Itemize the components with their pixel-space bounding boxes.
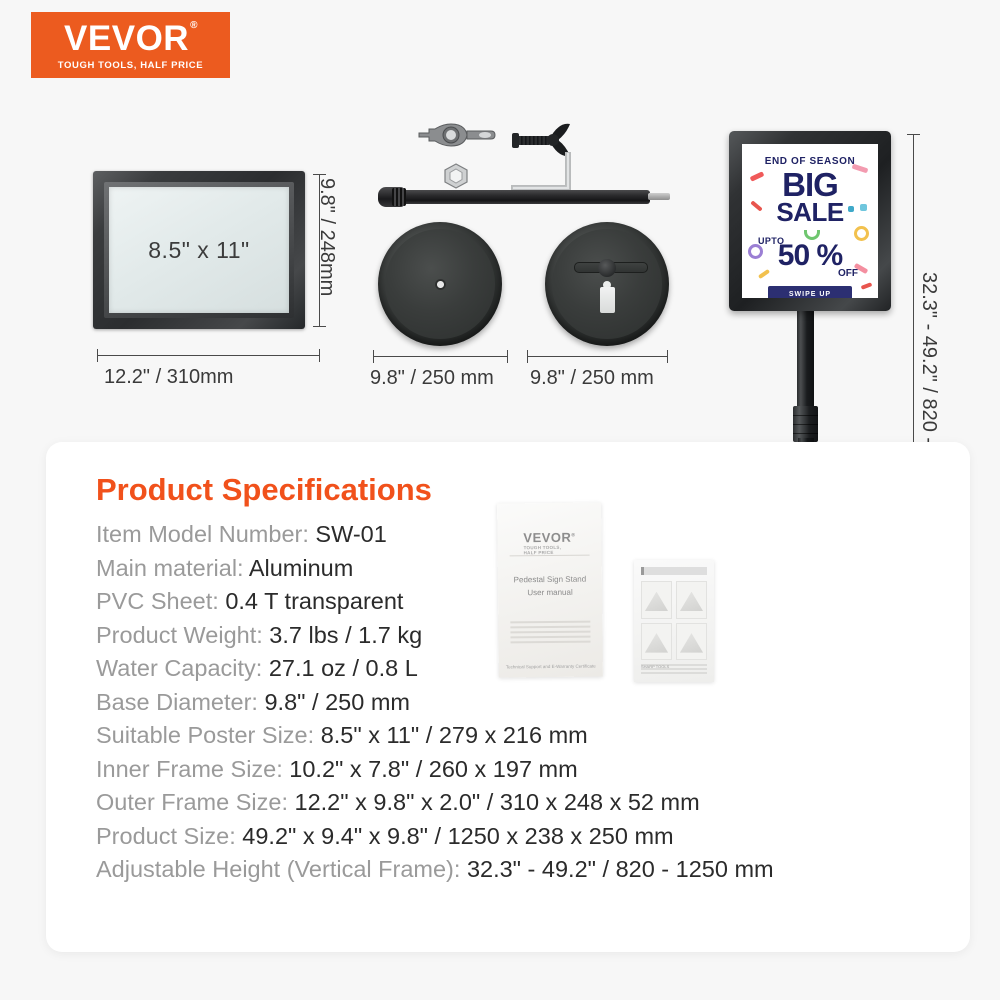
base-fill-tab: [600, 287, 615, 313]
spec-key: Outer Frame Size:: [96, 789, 288, 815]
brand-tagline: TOUGH TOOLS, HALF PRICE: [58, 60, 203, 71]
spec-key: Suitable Poster Size:: [96, 722, 314, 748]
poster-sale-text: SALE: [742, 199, 878, 225]
base-center-knob: [598, 259, 616, 277]
spec-value: 8.5" x 11" / 279 x 216 mm: [321, 722, 588, 748]
stand-height-tick-top: [907, 134, 920, 135]
base-right-tick-end: [667, 350, 668, 363]
frame-width-dim-line: [97, 355, 319, 356]
stand-frame-opening: END OF SEASON BIG SALE UPTO 50 % OFF SWI…: [742, 144, 878, 298]
frame-height-tick-bottom: [313, 326, 326, 327]
base-right-dim-text: 9.8" / 250 mm: [530, 367, 654, 390]
base-left-dim-line: [373, 356, 507, 357]
base-disc-face: [385, 229, 495, 339]
spec-value: 9.8" / 250 mm: [264, 689, 410, 715]
poster-swipe-up-button: SWIPE UP: [768, 286, 852, 298]
confetti-shape: [861, 282, 873, 290]
base-center-hole: [435, 279, 446, 290]
spec-row: Outer Frame Size: 12.2" x 9.8" x 2.0" / …: [96, 786, 774, 820]
base-left-dim-text: 9.8" / 250 mm: [370, 367, 494, 390]
base-right-tick-start: [527, 350, 528, 363]
poster-percent-text: 50 %: [742, 241, 878, 271]
frame-size-label: 8.5" x 11": [148, 237, 249, 264]
manual-title-line1: Pedestal Sign Stand: [498, 574, 602, 584]
base-disc-top-view: [378, 222, 502, 346]
stand-upper-pole: [797, 305, 814, 421]
spec-value: 10.2" x 7.8" / 260 x 197 mm: [289, 756, 577, 782]
manual-divider: [510, 555, 590, 557]
spec-row: Suitable Poster Size: 8.5" x 11" / 279 x…: [96, 719, 774, 753]
page-title: Product Specifications: [96, 472, 432, 508]
hex-nut-icon: [443, 163, 469, 189]
spec-value: 3.7 lbs / 1.7 kg: [269, 622, 422, 648]
instruction-step: [641, 581, 672, 619]
frame-width-dim-text: 12.2" / 310mm: [104, 366, 233, 389]
spec-key: Main material:: [96, 555, 244, 581]
manual-footer-text: Technical Support and E-Warranty Certifi…: [499, 663, 603, 669]
spec-key: PVC Sheet:: [96, 588, 219, 614]
spec-value: 27.1 oz / 0.8 L: [269, 655, 418, 681]
instruction-diagram-grid: [641, 581, 707, 660]
frame-height-dim-text: 9.8" / 248mm: [315, 178, 338, 296]
base-right-dim-line: [527, 356, 667, 357]
spec-value: 49.2" x 9.4" x 9.8" / 1250 x 238 x 250 m…: [242, 823, 673, 849]
spec-value: 32.3" - 49.2" / 820 - 1250 mm: [467, 856, 774, 882]
frame-width-tick-left: [97, 349, 98, 362]
instruction-sheet: SHARP TOOLS: [634, 560, 714, 682]
spec-row: Base Diameter: 9.8" / 250 mm: [96, 686, 774, 720]
instruction-step: [676, 581, 707, 619]
collar-groove-2: [793, 424, 818, 425]
instruction-sheet-footer: SHARP TOOLS: [641, 664, 707, 676]
spec-key: Adjustable Height (Vertical Frame):: [96, 856, 460, 882]
confetti-ring: [854, 226, 869, 241]
frame-inner-panel: 8.5" x 11": [109, 187, 289, 313]
spec-row: Product Size: 49.2" x 9.4" x 9.8" / 1250…: [96, 820, 774, 854]
sale-poster: END OF SEASON BIG SALE UPTO 50 % OFF SWI…: [742, 144, 878, 298]
base-left-tick-end: [507, 350, 508, 363]
stand-adjustment-collar: [793, 406, 818, 442]
spec-value: SW-01: [315, 521, 386, 547]
registered-mark: ®: [190, 20, 198, 31]
collar-groove-1: [793, 415, 818, 416]
pole-tip: [648, 193, 670, 200]
product-spec-page: VEVOR® TOUGH TOOLS, HALF PRICE 8.5" x 11…: [0, 0, 1000, 1000]
telescoping-pole: [398, 190, 650, 204]
base-disc-face-bottom: [552, 229, 662, 339]
poster-off-text: OFF: [838, 268, 858, 279]
stand-sign-frame: END OF SEASON BIG SALE UPTO 50 % OFF SWI…: [729, 131, 891, 311]
spec-key: Water Capacity:: [96, 655, 262, 681]
spec-key: Inner Frame Size:: [96, 756, 283, 782]
base-left-tick-start: [373, 350, 374, 363]
spec-key: Item Model Number:: [96, 521, 309, 547]
base-disc-bottom-view: [545, 222, 669, 346]
manual-body-text-lines: [510, 621, 590, 647]
instruction-sheet-header: [641, 567, 707, 575]
collar-groove-3: [793, 433, 818, 434]
spec-value: Aluminum: [249, 555, 353, 581]
manual-brand-tagline: TOUGH TOOLS, HALF PRICE: [524, 545, 576, 556]
frame-height-tick-top: [313, 174, 326, 175]
spec-key: Product Weight:: [96, 622, 263, 648]
spec-row: Item Model Number: SW-01: [96, 518, 774, 552]
vevor-logo: VEVOR® TOUGH TOOLS, HALF PRICE: [31, 12, 230, 78]
frame-product-image: 8.5" x 11": [93, 171, 305, 329]
instruction-step: [641, 623, 672, 661]
manual-brand-name: VEVOR®: [523, 530, 575, 546]
user-manual-cover: VEVOR® TOUGH TOOLS, HALF PRICE Pedestal …: [497, 502, 603, 677]
pole-threaded-section: [392, 188, 406, 206]
spec-key: Base Diameter:: [96, 689, 258, 715]
frame-width-tick-right: [319, 349, 320, 362]
wrench-icon: [415, 122, 497, 148]
spec-value: 12.2" x 9.8" x 2.0" / 310 x 248 x 52 mm: [295, 789, 700, 815]
instruction-footer-title: SHARP TOOLS: [641, 664, 707, 666]
spec-key: Product Size:: [96, 823, 236, 849]
instruction-step: [676, 623, 707, 661]
brand-name: VEVOR®: [64, 21, 197, 56]
spec-row: Inner Frame Size: 10.2" x 7.8" / 260 x 1…: [96, 753, 774, 787]
manual-title-line2: User manual: [498, 587, 602, 597]
spec-value: 0.4 T transparent: [225, 588, 403, 614]
spec-row: Adjustable Height (Vertical Frame): 32.3…: [96, 853, 774, 887]
